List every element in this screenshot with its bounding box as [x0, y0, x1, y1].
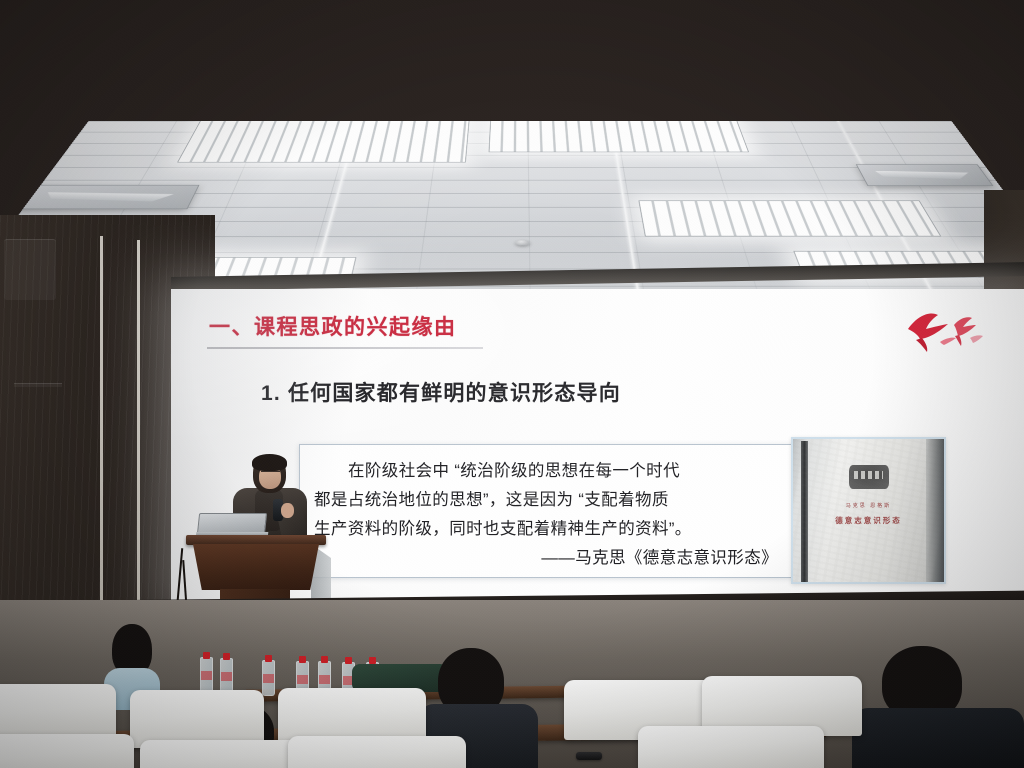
- wall-trim: [14, 383, 62, 387]
- audience-chair: [0, 734, 134, 768]
- quote-box: 在阶级社会中 “统治阶级的思想在每一个时代 都是占统治地位的思想”，这是因为 “…: [299, 444, 793, 578]
- quote-text: 在阶级社会中 “统治阶级的思想在每一个时代 都是占统治地位的思想”，这是因为 “…: [314, 457, 782, 573]
- book-page-edge: [926, 439, 944, 582]
- quote-line-3: 生产资料的阶级，同时也支配着精神生产的资料”。: [314, 515, 782, 544]
- ceiling-light-panel: [177, 121, 470, 162]
- audience-chair: [140, 740, 304, 768]
- book-cover-photo: 马克思 恩格斯 德意志意识形态: [791, 437, 946, 584]
- smoke-detector-icon: [515, 240, 529, 245]
- presenter-hair: [252, 454, 287, 471]
- quote-line-1: 在阶级社会中 “统治阶级的思想在每一个时代: [314, 457, 782, 486]
- audience-chair: [288, 736, 466, 768]
- presenter-hand: [281, 503, 294, 518]
- quote-line-2: 都是占统治地位的思想”，这是因为 “支配着物质: [314, 486, 782, 515]
- slide-subheading: 1. 任何国家都有鲜明的意识形态导向: [261, 377, 621, 407]
- podium-front: [193, 544, 319, 590]
- slide-heading: 一、课程思政的兴起缘由: [209, 311, 457, 341]
- podium-top: [186, 535, 326, 545]
- ceiling-light-panel: [638, 201, 941, 237]
- lecture-hall-photo: 一、课程思政的兴起缘由 1. 任何国家都有鲜明的意识形态导向 在阶级社会中 “统…: [0, 0, 1024, 768]
- ceiling-light-panel: [489, 121, 749, 152]
- book-cover-surface: 马克思 恩格斯 德意志意识形态: [793, 439, 944, 582]
- air-vent-icon: [856, 164, 993, 186]
- heading-underline: [207, 347, 483, 349]
- audience-person: [852, 646, 1012, 768]
- water-bottle: [200, 657, 213, 693]
- water-bottle: [220, 658, 233, 694]
- audience-chair: [638, 726, 824, 768]
- book-paper-texture: [793, 439, 944, 582]
- person-body: [852, 708, 1024, 768]
- glasses-icon: [261, 471, 280, 476]
- flying-birds-icon: [904, 305, 988, 357]
- air-vent-icon: [14, 185, 199, 209]
- water-bottle: [262, 660, 275, 696]
- wall-speaker-box: [4, 239, 56, 300]
- remote-control: [576, 752, 602, 760]
- quote-attribution: ——马克思《德意志意识形态》: [314, 544, 782, 573]
